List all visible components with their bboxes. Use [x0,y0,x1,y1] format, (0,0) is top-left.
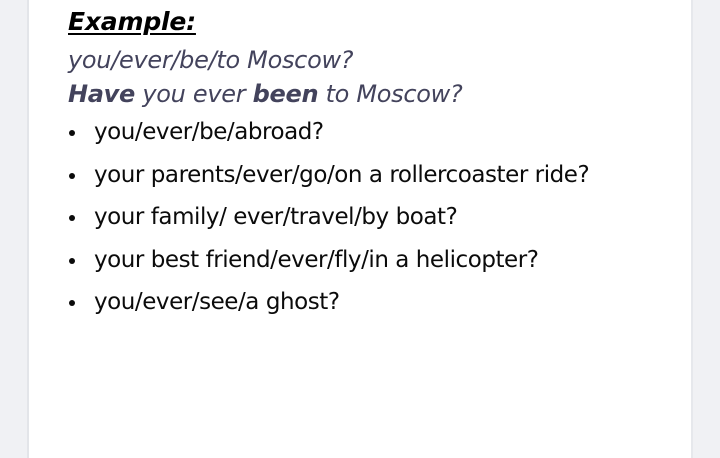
list-item: your parents/ever/go/on a rollercoaster … [68,161,684,190]
prompt-text: to Moscow? [318,80,462,108]
list-item: you/ever/be/abroad? [68,118,684,147]
list-item: your best friend/ever/fly/in a helicopte… [68,246,684,275]
prompt-emphasis: Have [68,80,135,108]
slide-canvas: Example: you/ever/be/to Moscow? Have you… [29,0,691,458]
slide-content: Example: you/ever/be/to Moscow? Have you… [68,6,684,318]
left-page-gutter [0,0,29,458]
prompt-text: you/ever/be/to Moscow? [68,46,353,74]
example-cue-line: you/ever/be/to Moscow? [68,43,684,77]
prompt-emphasis: been [253,80,319,108]
slide-heading: Example: [68,6,196,37]
example-prompt-block: you/ever/be/to Moscow? Have you ever bee… [68,43,684,111]
list-item: your family/ ever/travel/by boat? [68,203,684,232]
prompt-text: you ever [135,80,253,108]
list-item: you/ever/see/a ghost? [68,288,684,317]
slide-page: Example: you/ever/be/to Moscow? Have you… [0,0,720,458]
right-page-gutter [691,0,720,458]
exercise-list: you/ever/be/abroad?your parents/ever/go/… [68,118,684,317]
example-answer-line: Have you ever been to Moscow? [68,77,684,111]
